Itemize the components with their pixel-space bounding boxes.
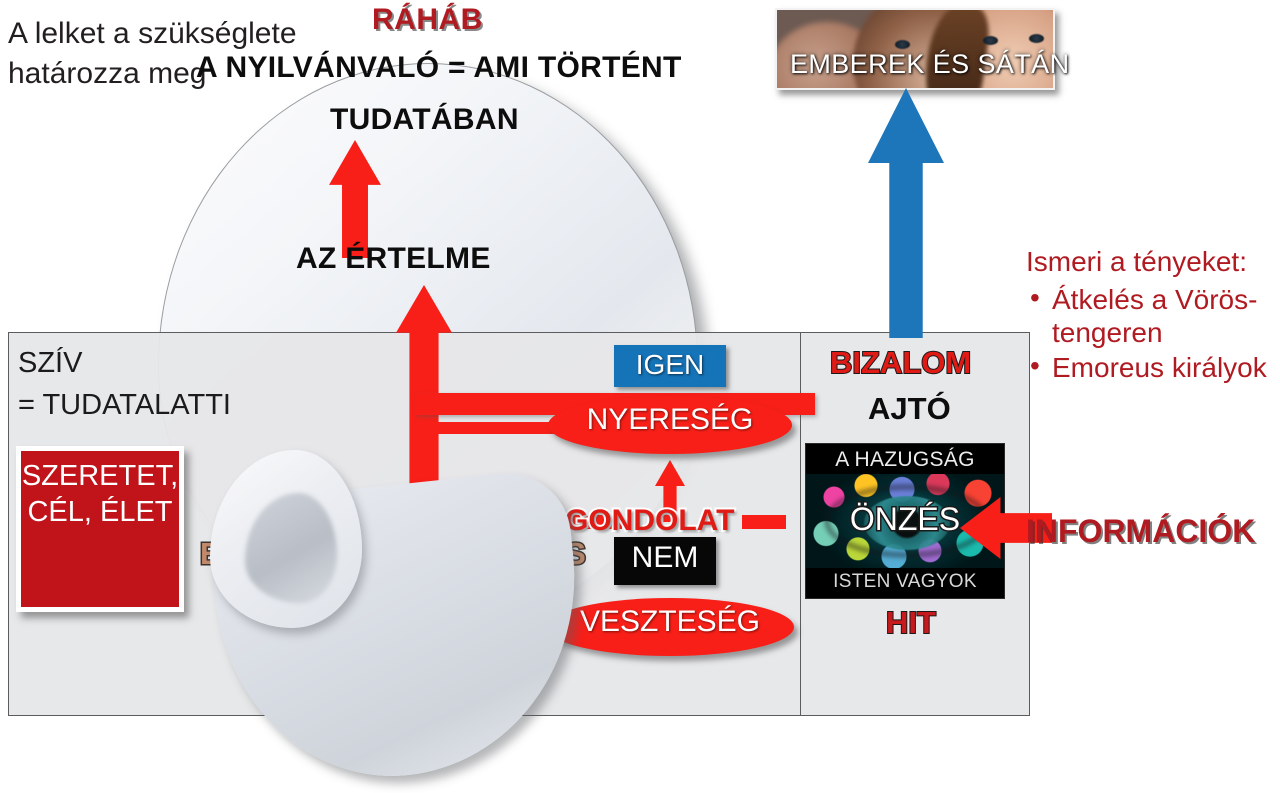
head-lower-illustration: [150, 55, 750, 715]
people-and-satan-label: EMBEREK ÉS SÁTÁN: [790, 50, 1069, 78]
i-am-god-label: ISTEN VAGYOK: [805, 572, 1005, 592]
facts-title: Ismeri a tényeket:: [1026, 247, 1247, 276]
trust-label: BIZALOM: [830, 347, 971, 380]
door-label: AJTÓ: [868, 393, 951, 426]
list-item: Emoreus királyok: [1026, 351, 1280, 384]
slide-canvas: A lelket a szükséglete határozza meg RÁH…: [0, 0, 1280, 720]
heart-label-line-1: SZÍV: [18, 348, 82, 378]
photo-eye-right-b: [1029, 34, 1044, 43]
photo-eye-right-a: [983, 36, 998, 45]
selfishness-label: ÖNZÉS: [805, 503, 1005, 537]
rahab-label: RÁHÁB: [372, 4, 483, 36]
information-label: INFORMÁCIÓK: [1026, 515, 1255, 549]
facts-list: Átkelés a Vörös-tengeren Emoreus királyo…: [1026, 283, 1280, 386]
arrow-up-blue-to-people: [868, 88, 944, 338]
door-divider: [800, 333, 801, 716]
faith-label: HIT: [886, 607, 936, 640]
photo-eye-left: [895, 40, 910, 49]
list-item: Átkelés a Vörös-tengeren: [1026, 283, 1280, 349]
lie-label: A HAZUGSÁG: [805, 449, 1005, 471]
